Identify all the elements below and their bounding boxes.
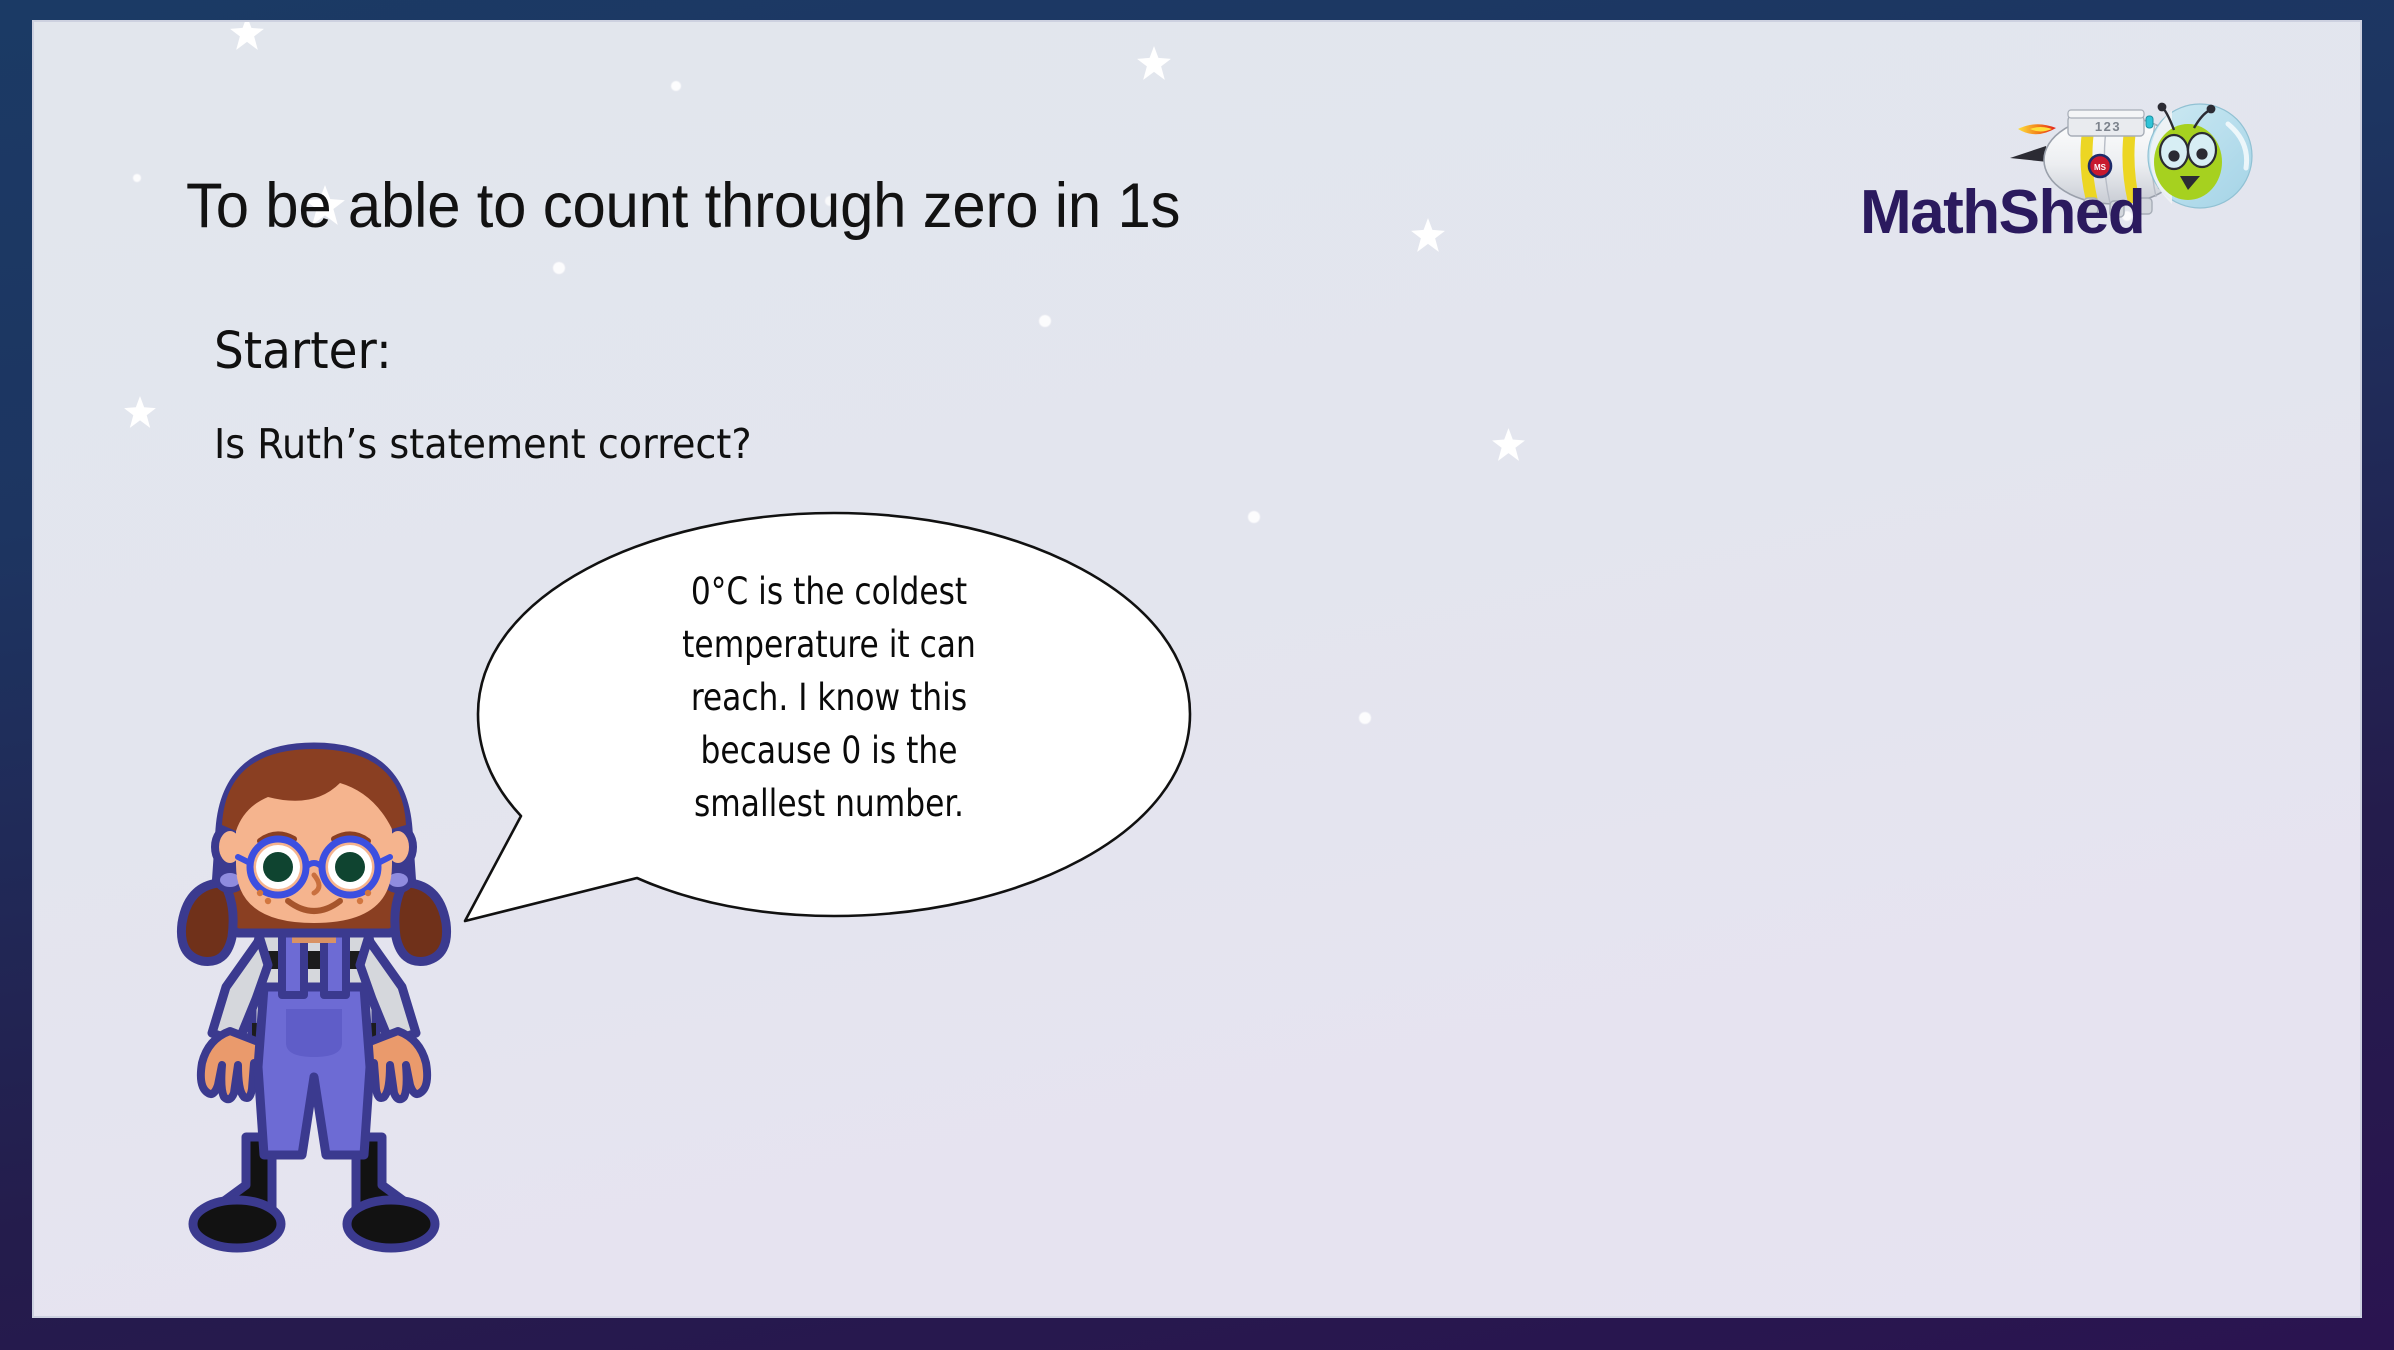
star-decoration: [230, 20, 264, 50]
star-dot-decoration: [553, 262, 565, 274]
star-dot-decoration: [1039, 315, 1051, 327]
svg-text:MathShed: MathShed: [1860, 178, 2144, 240]
starter-heading: Starter:: [214, 322, 392, 381]
slide-canvas: To be able to count through zero in 1s S…: [32, 20, 2362, 1318]
rocket-number-module: 123: [2068, 110, 2153, 136]
speech-bubble: 0°C is the coldest temperature it can re…: [459, 507, 1199, 927]
mathshed-logo[interactable]: MS 123: [1854, 100, 2274, 240]
star-dot-decoration: [133, 174, 141, 182]
rocket-badge-label: MS: [2094, 163, 2107, 172]
prompt-question: Is Ruth’s statement correct?: [214, 420, 752, 468]
slide-frame: To be able to count through zero in 1s S…: [0, 0, 2394, 1350]
character-ruth: [164, 737, 464, 1267]
star-decoration: [1411, 218, 1445, 252]
flame-icon: [2018, 124, 2056, 134]
star-dot-decoration: [671, 81, 681, 91]
star-decoration: [1137, 46, 1171, 80]
star-decoration: [1492, 428, 1525, 461]
star-dot-decoration: [1359, 712, 1371, 724]
logo-wordmark-math: Math: [1860, 178, 1999, 240]
rocket-number-label: 123: [2095, 119, 2121, 134]
ruth-illustration: [181, 747, 446, 1248]
page-title: To be able to count through zero in 1s: [186, 170, 1180, 242]
logo-wordmark-shed: Shed: [1999, 178, 2145, 240]
star-decoration: [124, 396, 156, 428]
speech-bubble-text: 0°C is the coldest temperature it can re…: [585, 565, 1074, 830]
star-dot-decoration: [1248, 511, 1260, 523]
